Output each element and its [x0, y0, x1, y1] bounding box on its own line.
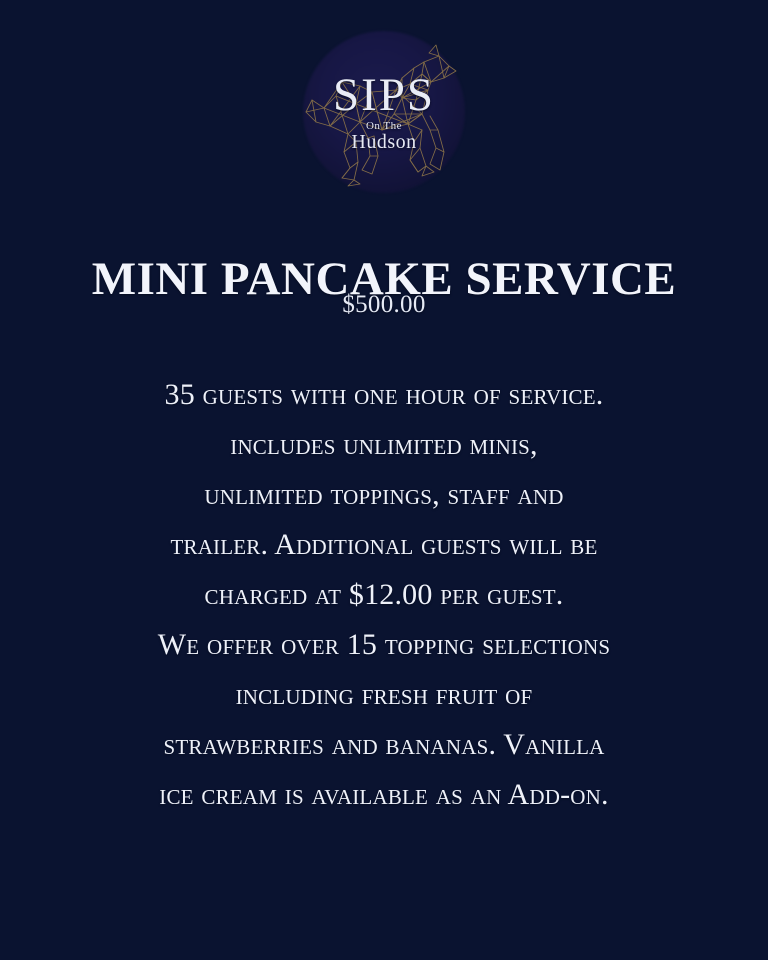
logo-mark: SIPS On The Hudson	[298, 26, 470, 198]
description-line: including fresh fruit of	[0, 670, 768, 720]
description-line: strawberries and bananas. Vanilla	[0, 720, 768, 770]
description-line: charged at $12.00 per guest.	[0, 570, 768, 620]
description-line: unlimited toppings, staff and	[0, 470, 768, 520]
product-price: $500.00	[0, 290, 768, 320]
logo-tagline-bottom: Hudson	[298, 132, 470, 152]
description-line: 35 guests with one hour of service.	[0, 370, 768, 420]
brand-logo: SIPS On The Hudson	[0, 24, 768, 199]
product-card: SIPS On The Hudson MINI PANCAKE SERVICE …	[0, 0, 768, 960]
description-line: ice cream is available as an Add-on.	[0, 770, 768, 820]
description-line: trailer. Additional guests will be	[0, 520, 768, 570]
logo-tagline-top: On The	[298, 121, 470, 132]
logo-wordmark: SIPS On The Hudson	[298, 72, 470, 152]
logo-brand-text: SIPS	[298, 72, 470, 119]
product-description: 35 guests with one hour of service. incl…	[0, 370, 768, 820]
description-line: includes unlimited minis,	[0, 420, 768, 470]
description-line: We offer over 15 topping selections	[0, 620, 768, 670]
